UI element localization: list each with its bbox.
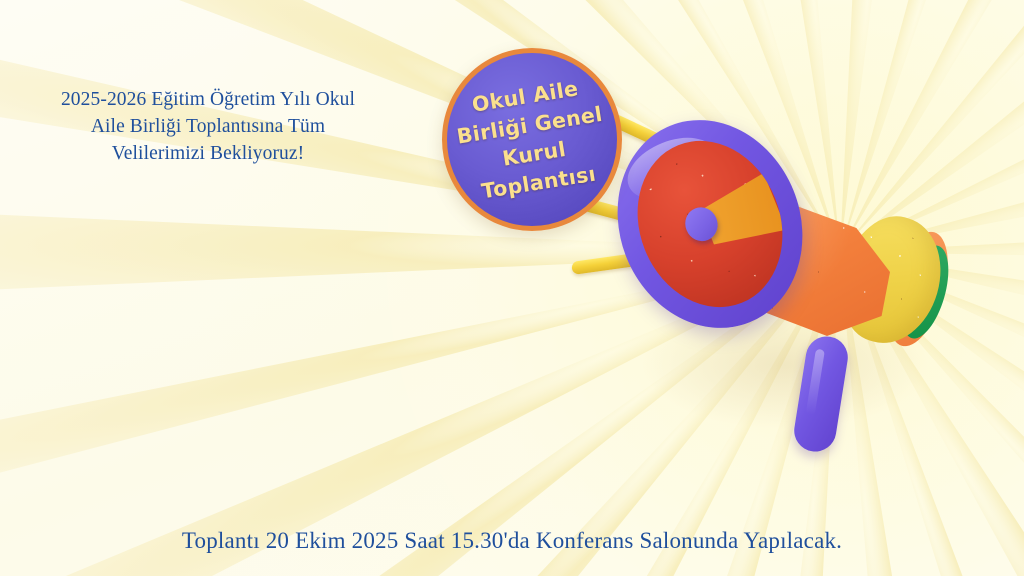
poster-headline: 2025-2026 Eğitim Öğretim Yılı Okul Aile … <box>8 86 408 167</box>
headline-line-3: Velilerimizi Bekliyoruz! <box>8 140 408 167</box>
headline-line-2: Aile Birliği Toplantısına Tüm <box>8 113 408 140</box>
meeting-badge-text: Okul Aile Birliği Genel Kurul Toplantısı <box>442 69 622 210</box>
poster-footer-line: Toplantı 20 Ekim 2025 Saat 15.30'da Konf… <box>0 526 1024 556</box>
megaphone-illustration-icon <box>600 100 1000 480</box>
headline-line-1: 2025-2026 Eğitim Öğretim Yılı Okul <box>8 86 408 113</box>
meeting-badge: Okul Aile Birliği Genel Kurul Toplantısı <box>442 48 622 231</box>
poster-canvas: 2025-2026 Eğitim Öğretim Yılı Okul Aile … <box>0 0 1024 576</box>
